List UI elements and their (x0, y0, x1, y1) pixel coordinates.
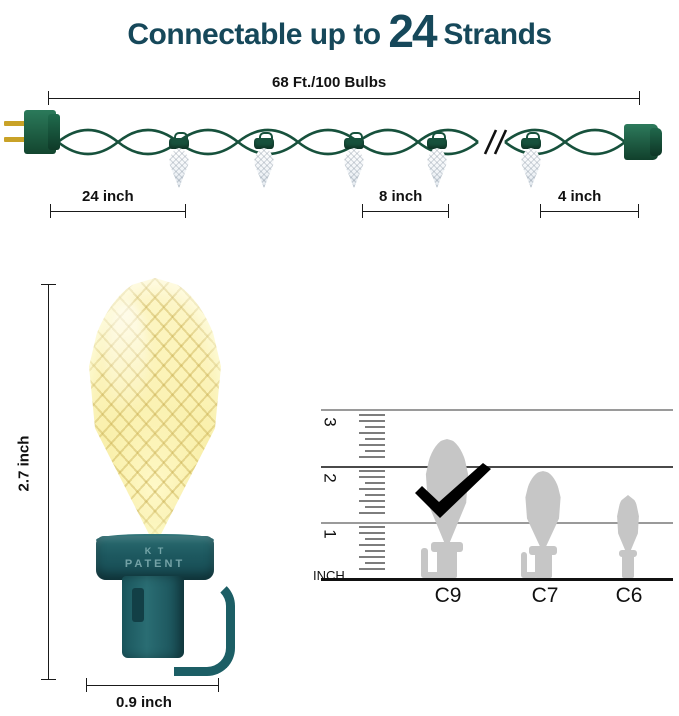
title-prefix: Connectable up to (127, 18, 388, 51)
comparison-label-c9: C9 (419, 584, 477, 608)
comparison-label-c7: C7 (517, 584, 573, 608)
bulb-cap (521, 138, 541, 149)
ruler-number-3: 3 (320, 417, 340, 426)
comparison-label-c6: C6 (601, 584, 657, 608)
gridline-2-inch (321, 466, 673, 468)
lead-wire-tick-right (185, 204, 186, 218)
string-bulb (424, 130, 450, 192)
bulb-width-tick-right (218, 678, 219, 692)
bulb-spacing-tick-left (362, 204, 363, 218)
chart-baseline (321, 578, 673, 581)
bulb-width-line (86, 685, 219, 686)
bulb-glass (343, 148, 365, 188)
c6-glass-silhouette (615, 495, 641, 557)
break-symbol-icon (476, 123, 516, 163)
c7-glass-silhouette (523, 471, 563, 553)
size-comparison-chart: 3 2 1 INCH C9 C7 C6 (313, 398, 673, 613)
bulb-cap (254, 138, 274, 149)
tail-wire-label: 4 inch (558, 188, 601, 205)
bulb-height-tick-top (41, 284, 56, 285)
total-length-line (48, 98, 640, 99)
tail-wire-tick-left (540, 204, 541, 218)
string-bulb (251, 130, 277, 192)
bulb-cap (169, 138, 189, 149)
bulb-height-label: 2.7 inch (16, 429, 33, 499)
bulb-glass (426, 148, 448, 188)
selected-check-icon (411, 461, 497, 523)
bulb-glass (520, 148, 542, 188)
tail-wire-tick-right (638, 204, 639, 218)
bulb-stem-slot (132, 588, 144, 622)
end-connector-cap (650, 128, 662, 156)
c6-stem-silhouette (622, 555, 634, 578)
string-bulb (518, 130, 544, 192)
title-suffix: Strands (436, 18, 552, 51)
string-bulb (166, 130, 192, 192)
bulb-width-label: 0.9 inch (116, 694, 172, 711)
page-title: Connectable up to 24 Strands (0, 8, 679, 58)
bulb-cap (427, 138, 447, 149)
ruler-number-2: 2 (320, 473, 340, 482)
plug-collar (48, 114, 60, 150)
bulb-height-tick-bottom (41, 679, 56, 680)
bulb-glass (168, 148, 190, 188)
bulb-cap (344, 138, 364, 149)
bulb-base-emboss-line2: PATENT (96, 558, 214, 570)
bulb-width-tick-left (86, 678, 87, 692)
ruler-unit-label: INCH (313, 568, 345, 583)
bulb-glass (253, 148, 275, 188)
bulb-base-emboss-line1: K T (96, 546, 214, 556)
bulb-height-line (48, 284, 49, 680)
tail-wire-line (540, 211, 639, 212)
string-bulb (341, 130, 367, 192)
lead-wire-tick-left (50, 204, 51, 218)
product-bulb-image: K T PATENT (70, 278, 240, 678)
wire-graphic (0, 112, 679, 172)
c7-hook-foot-silhouette (521, 572, 538, 578)
lead-wire-line (50, 211, 186, 212)
c9-hook-foot-silhouette (421, 572, 441, 578)
lead-wire-label: 24 inch (82, 188, 134, 205)
title-number: 24 (388, 5, 435, 57)
bulb-spacing-tick-right (448, 204, 449, 218)
plug-prong-top (4, 121, 26, 126)
bulb-glass-body (80, 278, 230, 546)
gridline-3-inch (321, 409, 673, 411)
bulb-spacing-line (362, 211, 449, 212)
ruler-number-1: 1 (320, 529, 340, 538)
bulb-highlight (106, 302, 148, 412)
bulb-spacing-label: 8 inch (379, 188, 422, 205)
plug-prong-bottom (4, 137, 26, 142)
total-length-label: 68 Ft./100 Bulbs (272, 74, 386, 91)
